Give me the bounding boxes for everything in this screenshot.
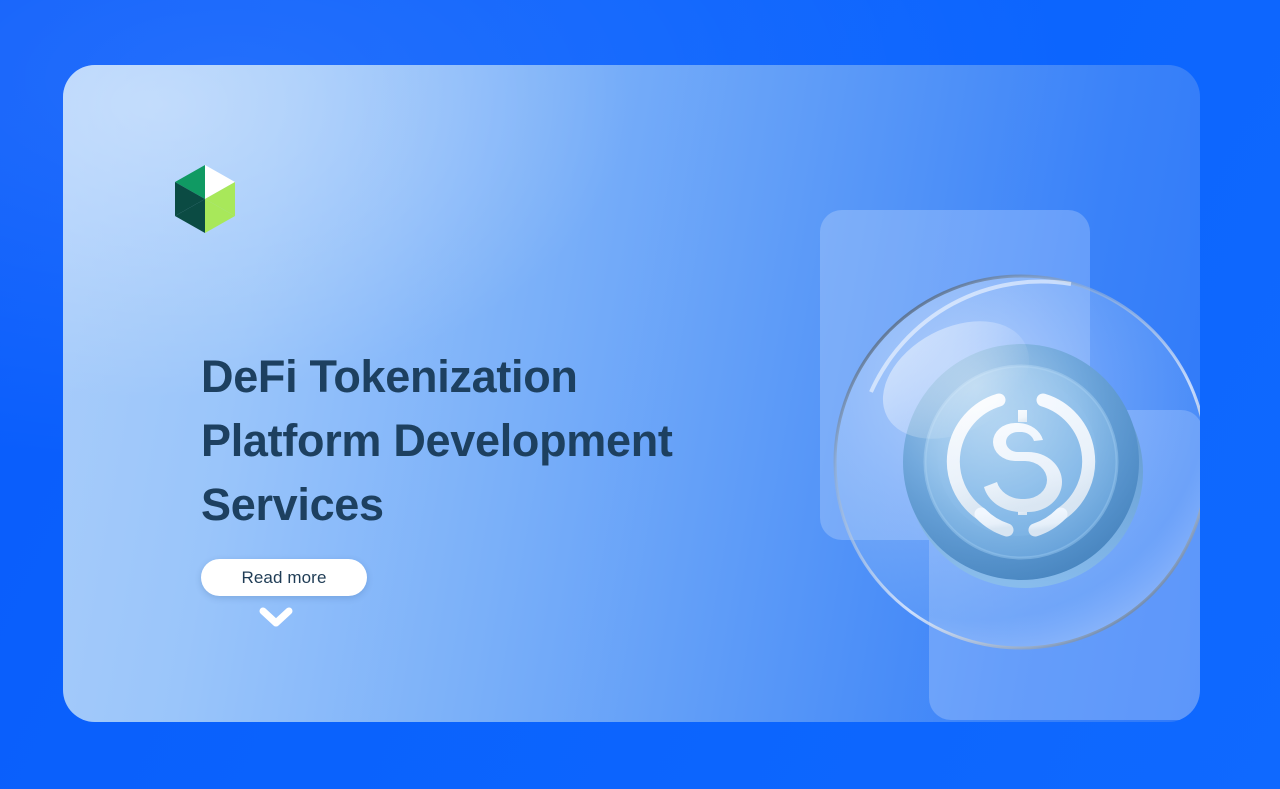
read-more-button[interactable]: Read more [201,559,367,596]
usdc-coin-in-glass-sphere [831,272,1200,652]
page-title: DeFi Tokenization Platform Development S… [201,345,801,537]
hexagon-cube-logo[interactable] [171,163,239,235]
cta-row: Read more [201,559,801,628]
chevron-down-icon[interactable] [259,606,293,628]
hero-card: DeFi Tokenization Platform Development S… [63,65,1200,722]
hero-copy: DeFi Tokenization Platform Development S… [201,345,801,628]
